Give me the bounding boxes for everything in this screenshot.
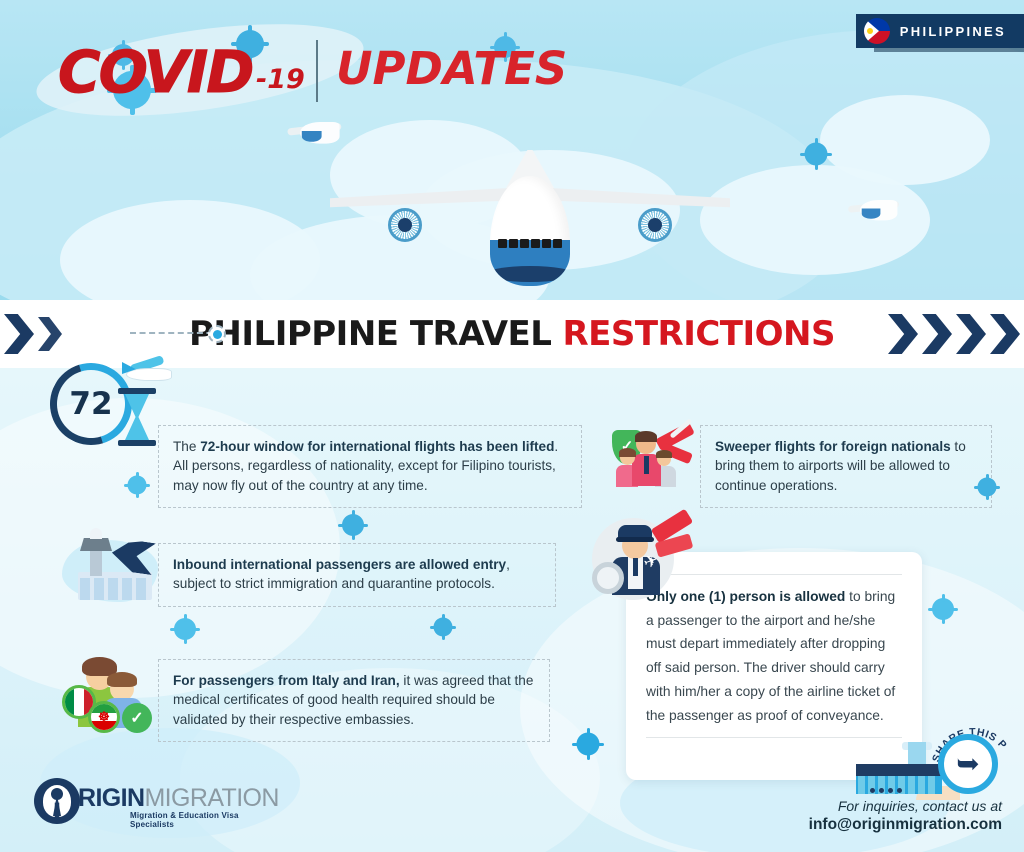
country-badge-label: PHILIPPINES <box>900 24 1006 39</box>
info-block-sweeper-flights: Sweeper flights for foreign nationals to… <box>700 425 992 508</box>
info-strong-text: 72-hour window for international flights… <box>200 439 554 454</box>
logo-word-secondary: MIGRATION <box>144 784 278 812</box>
info-strong-text: For passengers from Italy and Iran, <box>173 673 400 688</box>
info-block-72-hour-window: The 72-hour window for international fli… <box>158 425 582 508</box>
hourglass-icon <box>118 388 156 446</box>
logo-tagline: Migration & Education Visa Specialists <box>130 811 284 829</box>
infographic-page: COVID -19 UPDATES PHILIPPINES PHILIPPINE… <box>0 0 1024 852</box>
info-block-inbound-passengers: Inbound international passengers are all… <box>158 543 556 607</box>
covid-title-group: COVID -19 UPDATES <box>48 36 528 108</box>
page-title-main: PHILIPPINE TRAVEL <box>189 314 551 354</box>
tower-pillar <box>908 742 926 766</box>
terminal-windows <box>80 578 150 600</box>
logo-word-primary: RIGIN <box>78 784 144 812</box>
contact-line-1: For inquiries, contact us at <box>809 798 1002 814</box>
person-hair <box>635 431 657 442</box>
person-hair <box>107 672 137 687</box>
info-lead-text: The <box>173 439 200 454</box>
virus-icon <box>798 136 834 172</box>
company-logo: RIGINMIGRATION Migration & Education Vis… <box>34 778 284 830</box>
covid-word: COVID <box>58 38 252 106</box>
share-circle[interactable]: ➥ <box>938 734 998 794</box>
virus-icon <box>336 508 370 542</box>
virus-icon <box>428 612 458 642</box>
driver-tie <box>633 558 638 576</box>
tower-pillar <box>90 548 102 576</box>
hero-banner: COVID -19 UPDATES PHILIPPINES <box>0 0 1024 300</box>
virus-icon <box>570 726 606 762</box>
philippines-flag-icon <box>864 18 890 44</box>
mini-airplane-icon <box>118 358 178 392</box>
chevron-right-icon <box>956 314 986 354</box>
driver-cap-brim <box>616 537 654 542</box>
contact-block: For inquiries, contact us at info@origin… <box>809 798 1002 834</box>
person-hair <box>619 448 636 457</box>
info-strong-text: Inbound international passengers are all… <box>173 557 506 572</box>
page-title-accent: RESTRICTIONS <box>562 314 835 354</box>
green-check-icon: ✓ <box>122 703 152 733</box>
share-arrow-icon: ➥ <box>956 750 979 778</box>
virus-icon <box>972 472 1002 502</box>
airplane-cockpit-windows <box>498 236 562 250</box>
info-block-italy-iran: For passengers from Italy and Iran, it w… <box>158 659 550 742</box>
shield-people-plane-icon <box>612 428 692 490</box>
title-connector-dot <box>208 325 226 343</box>
card-divider-bottom <box>646 737 902 738</box>
airplane-front-icon <box>330 150 730 300</box>
card-rest-text: to bring a passenger to the airport and … <box>646 589 895 723</box>
virus-icon <box>926 592 960 626</box>
share-this-post-button[interactable]: SHARE THIS POST ➥ <box>932 722 1010 800</box>
info-strong-text: Sweeper flights for foreign nationals <box>715 439 951 454</box>
logo-person-head <box>51 788 63 800</box>
cloud-shape <box>820 95 990 185</box>
airplane-engine-right <box>638 208 672 242</box>
terminal-band <box>856 764 942 776</box>
tower-cabin <box>80 538 112 551</box>
updates-word: UPDATES <box>336 42 567 95</box>
steering-wheel-icon <box>592 562 624 594</box>
card-text: Only one (1) person is allowed to bring … <box>646 585 902 727</box>
virus-icon <box>122 470 152 500</box>
italy-iran-flags-people-icon: ☸ ✓ <box>60 655 158 733</box>
chevron-group-right <box>888 314 1020 354</box>
title-divider <box>316 40 318 102</box>
person-tie <box>644 456 649 474</box>
driver-boarding-pass-icon: ✈ <box>592 512 696 600</box>
logo-wordmark: RIGINMIGRATION <box>78 784 279 813</box>
chevron-right-icon <box>888 314 918 354</box>
person-hair <box>656 450 672 458</box>
country-badge: PHILIPPINES <box>856 14 1024 48</box>
virus-icon <box>168 612 202 646</box>
chevron-right-icon <box>990 314 1020 354</box>
chevron-right-icon <box>922 314 952 354</box>
airplane-engine-left <box>388 208 422 242</box>
contact-email[interactable]: info@originmigration.com <box>809 816 1002 834</box>
tower-top <box>90 528 102 539</box>
terminal-lights <box>870 788 902 793</box>
iran-flag-icon: ☸ <box>88 701 120 733</box>
covid-19-suffix: -19 <box>256 64 305 95</box>
control-tower-inbound-icon <box>62 528 158 604</box>
